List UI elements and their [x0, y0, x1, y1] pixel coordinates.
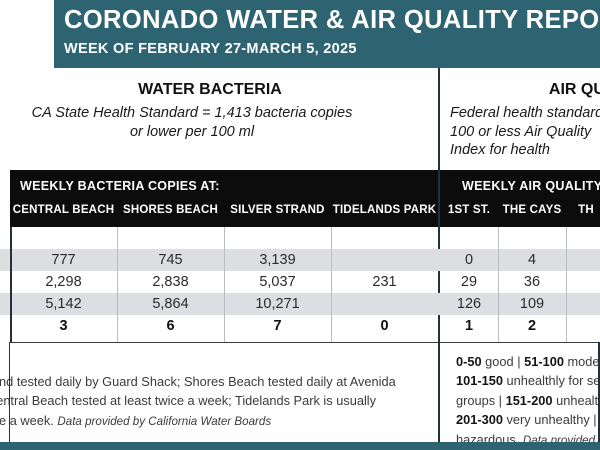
- air-cell: 2: [498, 315, 566, 337]
- water-cell: [331, 227, 438, 249]
- air-section-title: AIR QUALITY: [450, 82, 600, 98]
- water-cell: [117, 227, 224, 249]
- water-section-title: WATER BACTERIA: [0, 82, 460, 98]
- water-standard-line1: CA State Health Standard = 1,413 bacteri…: [0, 104, 462, 123]
- air-cell: [566, 249, 600, 271]
- table-row: 7777453,13904: [0, 249, 600, 271]
- column-divider: [498, 227, 499, 342]
- water-cell: [331, 293, 438, 315]
- air-standard-line3: Index for health: [450, 141, 600, 160]
- water-column-header-0: CENTRAL BEACH: [10, 205, 117, 217]
- air-cell: 4: [498, 249, 566, 271]
- water-cell: [331, 249, 438, 271]
- air-cell: 36: [498, 271, 566, 293]
- table-edge-line: [10, 227, 12, 342]
- water-cell: 2,838: [117, 271, 224, 293]
- water-cell: 3,139: [224, 249, 331, 271]
- air-cell: [498, 227, 566, 249]
- report-title: CORONADO WATER & AIR QUALITY REPORT: [64, 8, 600, 34]
- water-cell: [224, 227, 331, 249]
- air-cell: 0: [440, 249, 498, 271]
- air-standard-line1: Federal health standard =: [450, 104, 600, 123]
- table-row: [0, 227, 600, 249]
- water-column-header-2: SILVER STRAND: [224, 205, 331, 217]
- air-cell: 126: [440, 293, 498, 315]
- water-table-caption: WEEKLY BACTERIA COPIES AT:: [20, 180, 220, 193]
- water-cell: 7: [224, 315, 331, 337]
- water-cell: 2,298: [10, 271, 117, 293]
- water-cell: [10, 227, 117, 249]
- column-divider: [224, 227, 225, 342]
- water-cell: 777: [10, 249, 117, 271]
- water-cell: 745: [117, 249, 224, 271]
- column-divider: [566, 227, 567, 342]
- column-divider: [331, 227, 332, 342]
- bottom-band: [0, 442, 600, 450]
- air-standard-line2: 100 or less Air Quality: [450, 123, 600, 142]
- water-column-header-3: TIDELANDS PARK: [331, 205, 438, 217]
- aqi-legend-line4: 201-300 very unhealthy | 301+: [456, 410, 600, 429]
- water-column-header-1: SHORES BEACH: [117, 205, 224, 217]
- column-divider: [117, 227, 118, 342]
- air-standard-note: Federal health standard = 100 or less Ai…: [450, 104, 600, 160]
- water-cell: 6: [117, 315, 224, 337]
- water-cell: 10,271: [224, 293, 331, 315]
- water-cell: 5,864: [117, 293, 224, 315]
- water-footnote-line1: Silver Strand tested daily by Guard Shac…: [0, 372, 460, 391]
- water-cell: 3: [10, 315, 117, 337]
- table-bottom-rule: [10, 342, 438, 343]
- air-cell: [566, 227, 600, 249]
- aqi-legend-line3: groups | 151-200 unhealthly |: [456, 391, 600, 410]
- air-cell: [440, 227, 498, 249]
- air-cell: [566, 293, 600, 315]
- water-footnote-line3: tested once a week. Data provided by Cal…: [0, 411, 460, 431]
- report-week: WEEK OF FEBRUARY 27-MARCH 5, 2025: [64, 42, 600, 57]
- air-column-header-0: 1ST ST.: [440, 205, 498, 217]
- footnote-frame-left: [9, 342, 10, 442]
- water-footnote-line2: Lorena; Central Beach tested at least tw…: [0, 391, 460, 410]
- air-cell: [566, 271, 600, 293]
- aqi-legend-line2: 101-150 unhealthly for sensitive: [456, 371, 600, 390]
- report-page: CORONADO WATER & AIR QUALITY REPORT WEEK…: [0, 0, 600, 450]
- air-cell: 109: [498, 293, 566, 315]
- air-cell: 29: [440, 271, 498, 293]
- section-titles: WATER BACTERIA CA State Health Standard …: [0, 68, 600, 162]
- table-row: 367012: [0, 315, 600, 337]
- water-cell: 0: [331, 315, 438, 337]
- table-bottom-rule: [440, 342, 600, 343]
- air-table-caption: WEEKLY AIR QUALITY: [462, 180, 600, 193]
- water-cell: 5,142: [10, 293, 117, 315]
- air-column-header-1: THE CAYS: [498, 205, 566, 217]
- water-standard-line2: or lower per 100 ml: [0, 123, 462, 142]
- air-quality-legend: 0-50 good | 51-100 moderate | 101-150 un…: [456, 352, 600, 449]
- aqi-legend-line1: 0-50 good | 51-100 moderate |: [456, 352, 600, 371]
- table-row: 5,1425,86410,271126109: [0, 293, 600, 315]
- air-cell: [566, 315, 600, 337]
- water-standard-note: CA State Health Standard = 1,413 bacteri…: [0, 104, 462, 141]
- table-row: 2,2982,8385,0372312936: [0, 271, 600, 293]
- data-grid: 7777453,139042,2982,8385,03723129365,142…: [0, 227, 600, 342]
- air-column-header-2: TH: [566, 205, 600, 217]
- air-cell: 1: [440, 315, 498, 337]
- water-cell: 5,037: [224, 271, 331, 293]
- water-footnote: Silver Strand tested daily by Guard Shac…: [0, 372, 460, 430]
- water-cell: 231: [331, 271, 438, 293]
